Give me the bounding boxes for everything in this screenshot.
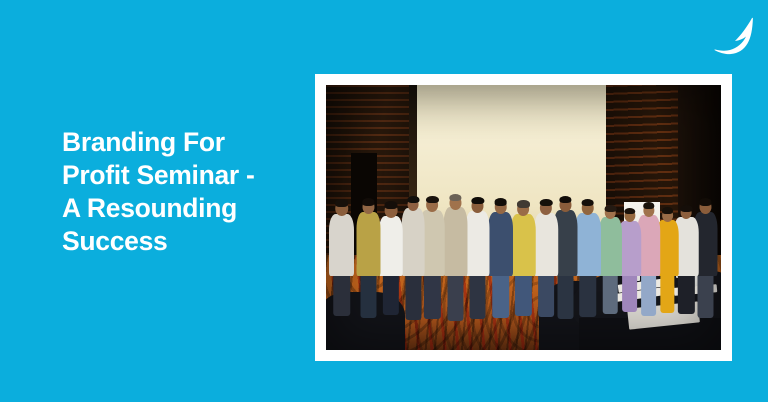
attendee-hair bbox=[495, 198, 507, 205]
attendee-torso bbox=[443, 207, 467, 275]
attendee-hair bbox=[624, 208, 635, 215]
attendee-hair bbox=[335, 199, 348, 207]
attendee-hair bbox=[517, 200, 529, 207]
attendee-hair bbox=[643, 202, 654, 209]
attendee-hair bbox=[605, 205, 616, 212]
attendee-torso bbox=[378, 216, 403, 276]
attendee bbox=[465, 163, 490, 276]
attendee bbox=[599, 175, 623, 276]
attendee-torso bbox=[535, 213, 558, 276]
page-title: Branding For Profit Seminar - A Resoundi… bbox=[62, 126, 292, 258]
seminar-group-photo bbox=[326, 85, 721, 350]
attendee bbox=[443, 158, 468, 276]
attendee bbox=[487, 166, 514, 276]
banner: Branding For Profit Seminar - A Resoundi… bbox=[0, 0, 768, 402]
attendee-torso bbox=[466, 211, 490, 276]
seagull-bird-logo bbox=[708, 14, 758, 64]
attendee-torso bbox=[599, 217, 622, 275]
headline-line-2: Profit Seminar - bbox=[62, 159, 292, 192]
attendee bbox=[402, 159, 426, 276]
attendee-hair bbox=[408, 196, 419, 203]
attendee-hair bbox=[582, 199, 594, 206]
attendee-hair bbox=[540, 199, 552, 206]
attendee-hair bbox=[426, 196, 438, 203]
attendee-hair bbox=[472, 197, 484, 204]
attendee-hair bbox=[699, 198, 711, 205]
attendee-torso bbox=[356, 212, 380, 276]
attendee-torso bbox=[511, 214, 536, 275]
attendee-torso bbox=[402, 208, 425, 276]
headline-line-1: Branding For bbox=[62, 126, 292, 159]
attendee bbox=[378, 172, 404, 275]
attendee-hair bbox=[559, 196, 571, 203]
attendee bbox=[511, 170, 537, 276]
attendee bbox=[356, 166, 381, 276]
attendee bbox=[328, 170, 355, 276]
attendee-group bbox=[334, 143, 713, 276]
attendee-hair bbox=[384, 201, 397, 209]
attendee-hair bbox=[662, 207, 673, 214]
attendee-hair bbox=[681, 205, 692, 212]
attendee bbox=[575, 167, 602, 276]
headline-line-3: A Resounding bbox=[62, 192, 292, 225]
attendee-hair bbox=[449, 194, 461, 201]
attendee-hair bbox=[362, 198, 374, 205]
attendee-torso bbox=[575, 213, 600, 276]
headline-line-4: Success bbox=[62, 225, 292, 258]
attendee bbox=[534, 167, 558, 276]
photo-frame bbox=[315, 74, 732, 361]
attendee-torso bbox=[488, 212, 513, 276]
attendee-torso bbox=[329, 214, 354, 275]
